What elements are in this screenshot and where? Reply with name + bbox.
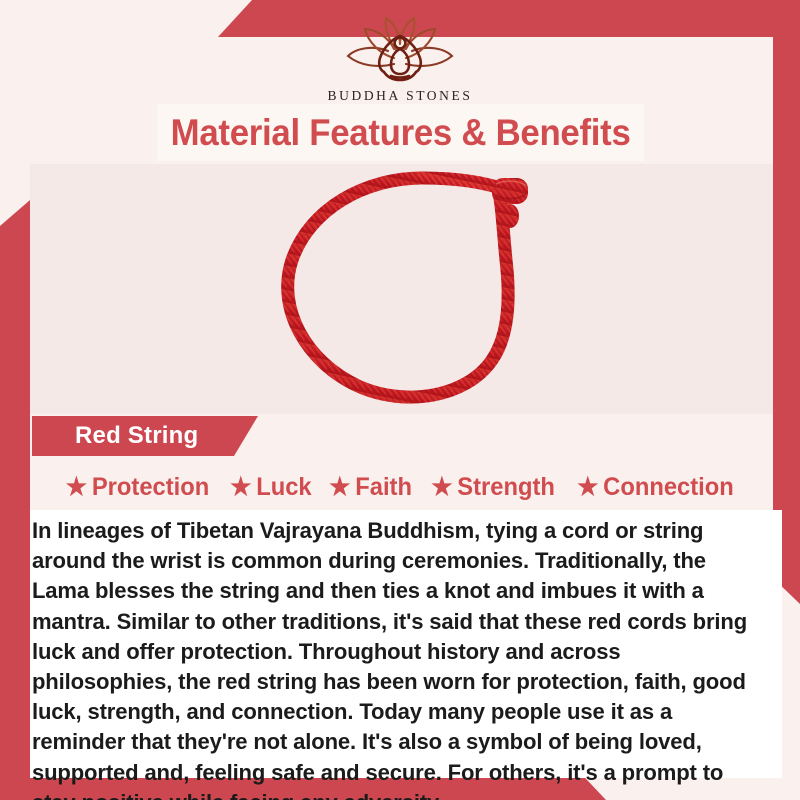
benefit-item: ★ Luck xyxy=(230,473,311,502)
benefit-item: ★ Faith xyxy=(329,473,412,502)
brand-wordmark: BUDDHA STONES xyxy=(0,88,800,104)
page-title-band: Material Features & Benefits xyxy=(157,104,644,161)
star-icon: ★ xyxy=(577,475,598,500)
star-icon: ★ xyxy=(329,475,350,500)
product-image-area xyxy=(30,164,773,414)
star-icon: ★ xyxy=(230,475,251,500)
page-title: Material Features & Benefits xyxy=(171,112,631,154)
brand-logo: BUDDHA STONES xyxy=(0,14,800,104)
star-icon: ★ xyxy=(66,475,87,500)
description-panel: In lineages of Tibetan Vajrayana Buddhis… xyxy=(30,510,782,778)
lotus-meditation-icon xyxy=(334,14,466,86)
description-text: In lineages of Tibetan Vajrayana Buddhis… xyxy=(30,510,771,800)
benefit-label: Connection xyxy=(603,473,734,502)
benefit-item: ★ Connection xyxy=(577,473,734,502)
benefits-list: ★ Protection ★ Luck ★ Faith ★ Strength ★… xyxy=(0,464,800,510)
star-icon: ★ xyxy=(432,475,453,500)
benefit-label: Strength xyxy=(458,473,556,502)
benefit-label: Faith xyxy=(356,473,413,502)
benefit-item: ★ Protection xyxy=(66,473,209,502)
red-braided-cord-bracelet-image xyxy=(270,164,560,414)
benefit-label: Luck xyxy=(256,473,311,502)
product-label: Red String xyxy=(75,422,198,450)
benefit-label: Protection xyxy=(92,473,209,502)
product-infographic: BUDDHA STONES Material Features & Benefi… xyxy=(0,0,800,800)
product-label-banner: Red String xyxy=(32,416,258,456)
benefit-item: ★ Strength xyxy=(432,473,556,502)
